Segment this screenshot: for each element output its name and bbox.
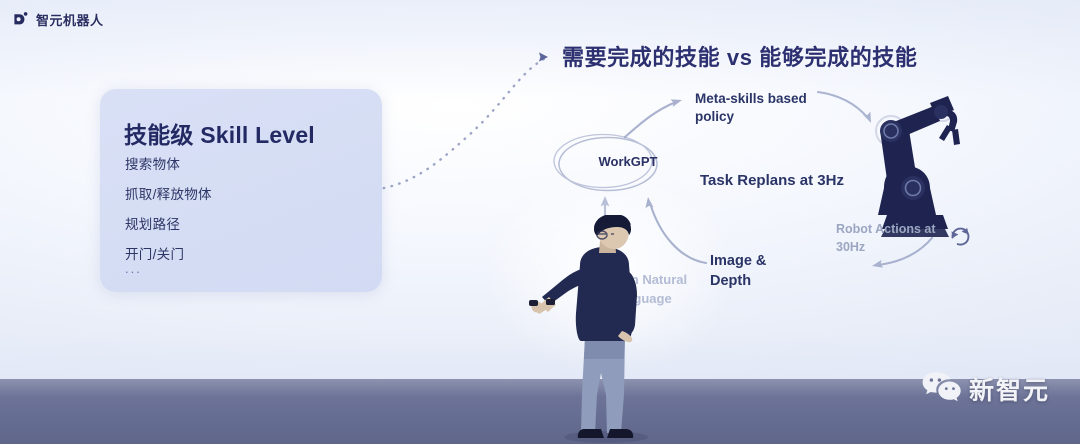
list-item: 规划路径 [125, 213, 212, 233]
list-item: 抓取/释放物体 [125, 183, 212, 203]
image-depth-label: Image & Depth [710, 252, 802, 291]
list-item: 开门/关门 [125, 243, 212, 263]
card-title: 技能级 Skill Level [124, 116, 315, 150]
wechat-icon [921, 370, 961, 407]
remote-clicker-icon [529, 300, 538, 306]
robot-actions-label: Robot Actions at 30Hz [836, 221, 946, 256]
meta-skills-policy-label: Meta-skills based policy [695, 90, 825, 126]
presenter-pointing-icon [528, 215, 678, 444]
workgpt-label: WorkGPT [577, 154, 679, 169]
watermark: 新智元 [921, 370, 1050, 407]
task-replans-label: Task Replans at 3Hz [700, 172, 844, 189]
brand-name: 智元机器人 [36, 10, 104, 29]
list-ellipsis: ... [125, 261, 142, 276]
page-title: 需要完成的技能 vs 能够完成的技能 [562, 40, 918, 72]
brand-logo: 智元机器人 [12, 10, 104, 29]
skill-list: 搜索物体 抓取/释放物体 规划路径 开门/关门 [125, 153, 212, 273]
slide-screenshot: 智元机器人 技能级 Skill Level 搜索物体 抓取/释放物体 规划路径 … [0, 0, 1080, 444]
aiming-robot-d-mark-icon [12, 11, 29, 28]
watermark-text: 新智元 [969, 371, 1050, 407]
list-item: 搜索物体 [125, 153, 212, 173]
skill-level-card: 技能级 Skill Level 搜索物体 抓取/释放物体 规划路径 开门/关门 … [100, 89, 382, 292]
